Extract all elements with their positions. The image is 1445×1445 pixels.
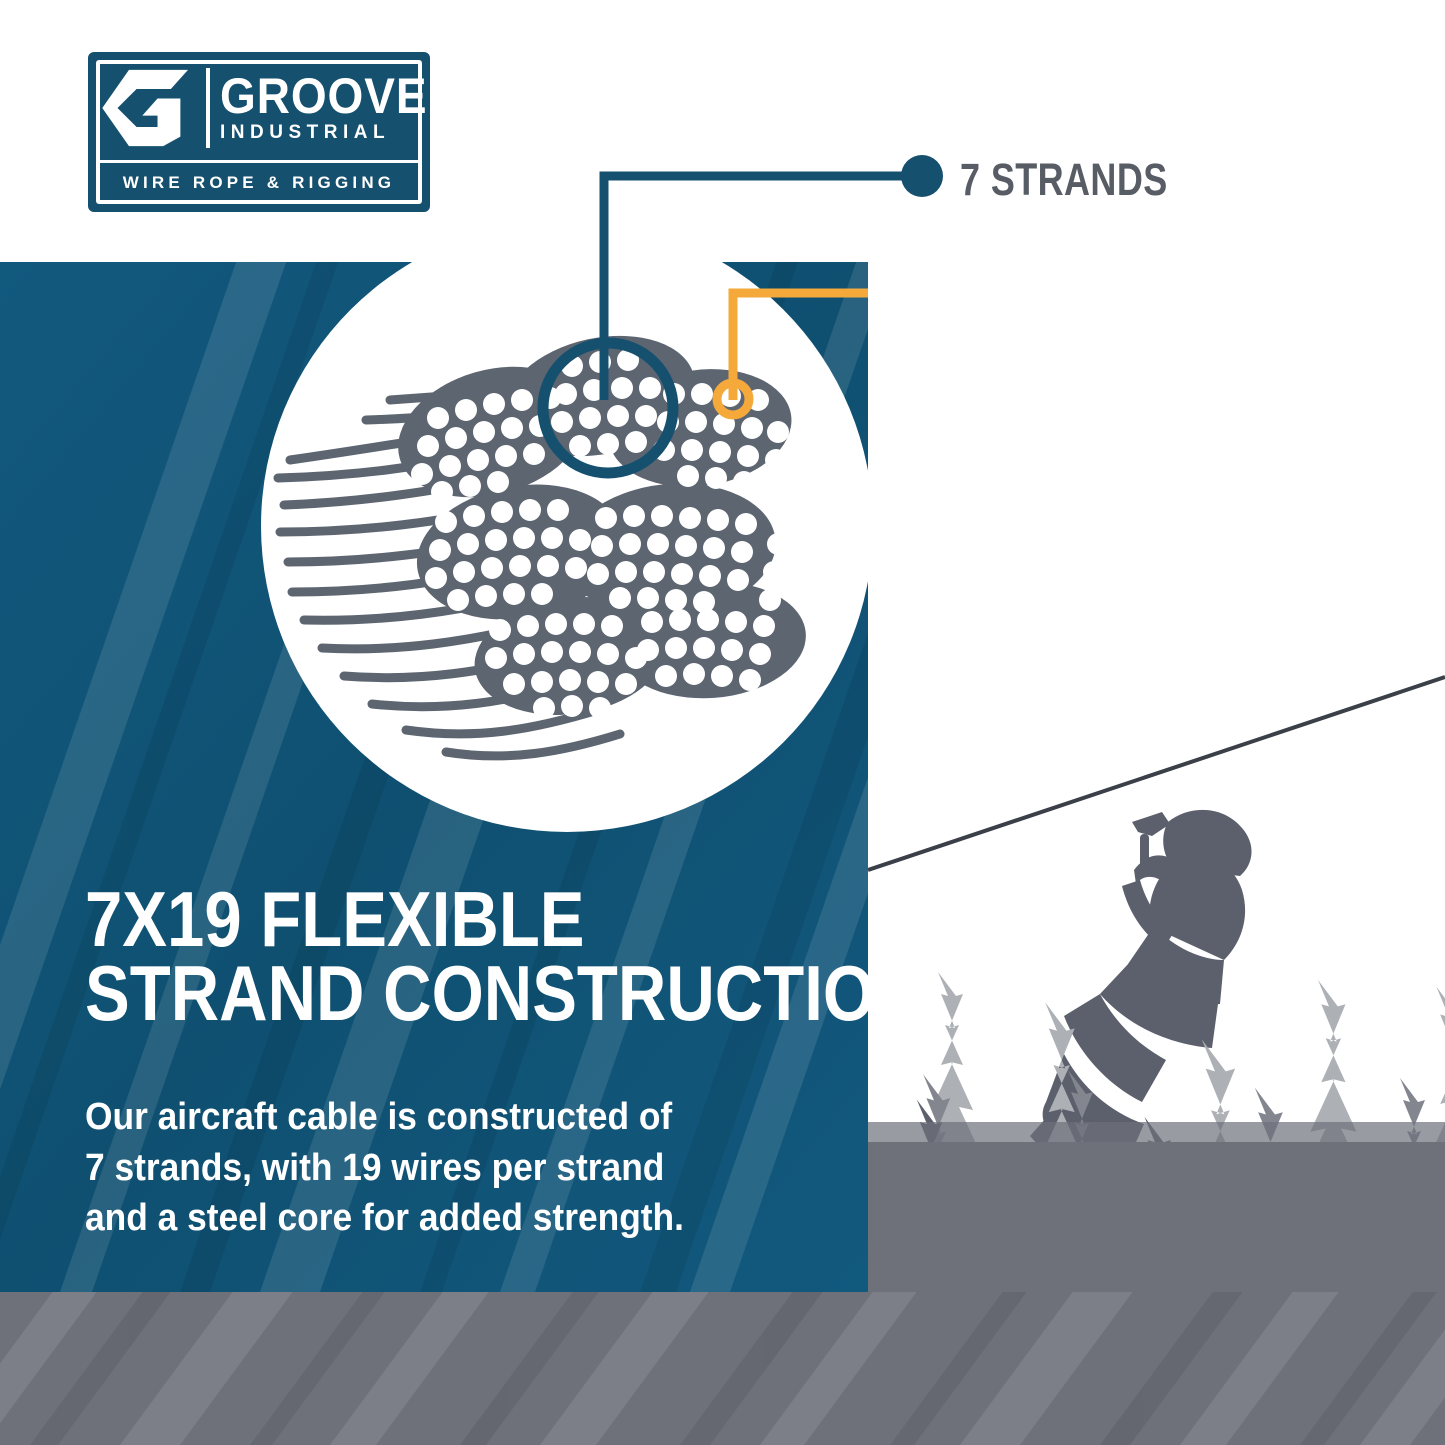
logo-wordmark: GROOVE INDUSTRIAL	[220, 73, 445, 144]
logo-tagline: WIRE ROPE & RIGGING	[123, 173, 395, 193]
headline-line-2: STRAND CONSTRUCTION	[85, 956, 739, 1030]
logo-horizontal-rule	[100, 160, 418, 163]
body-paragraph: Our aircraft cable is constructed of 7 s…	[85, 1092, 699, 1244]
bottom-accent-bar	[0, 1292, 1445, 1445]
logo-divider	[206, 68, 210, 148]
headline: 7X19 FLEXIBLE STRAND CONSTRUCTION	[85, 882, 739, 1030]
logo-brand-name: GROOVE	[220, 73, 427, 119]
logo-brand-subtitle: INDUSTRIAL	[220, 122, 445, 144]
groove-g-monogram-icon	[100, 68, 196, 148]
logo-top-row: GROOVE INDUSTRIAL	[100, 64, 418, 152]
brand-logo: GROOVE INDUSTRIAL WIRE ROPE & RIGGING	[88, 52, 430, 212]
logo-tagline-row: WIRE ROPE & RIGGING	[100, 168, 418, 198]
zipline-scene-illustration	[868, 262, 1445, 1292]
wire-rope-cross-section-illustration	[270, 300, 830, 770]
strand-bundles	[383, 319, 810, 726]
headline-line-1: 7X19 FLEXIBLE	[85, 882, 739, 956]
infographic-canvas: GROOVE INDUSTRIAL WIRE ROPE & RIGGING	[0, 0, 1445, 1445]
callout-dot-strands	[901, 155, 943, 197]
callout-label-strands: 7 STRANDS	[960, 154, 1168, 206]
